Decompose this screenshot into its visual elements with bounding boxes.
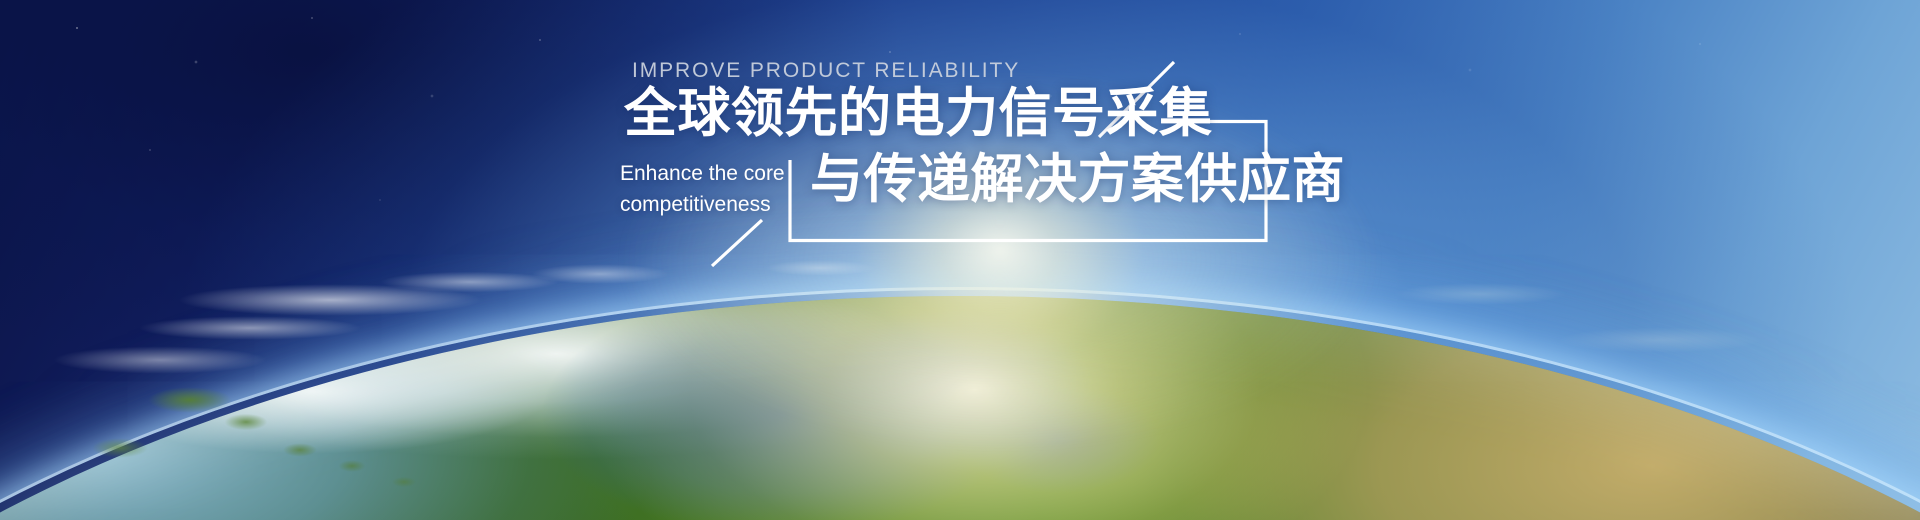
hero-banner: IMPROVE PRODUCT RELIABILITY 全球领先的电力信号采集 …: [0, 0, 1920, 520]
banner-headline-line1: 全球领先的电力信号采集: [624, 84, 1213, 143]
banner-headline-line2: 与传递解决方案供应商: [810, 150, 1345, 209]
banner-eyebrow: IMPROVE PRODUCT RELIABILITY: [632, 60, 1020, 81]
banner-subtext: Enhance the core competitiveness: [620, 158, 790, 220]
earth-globe: [0, 296, 1920, 520]
